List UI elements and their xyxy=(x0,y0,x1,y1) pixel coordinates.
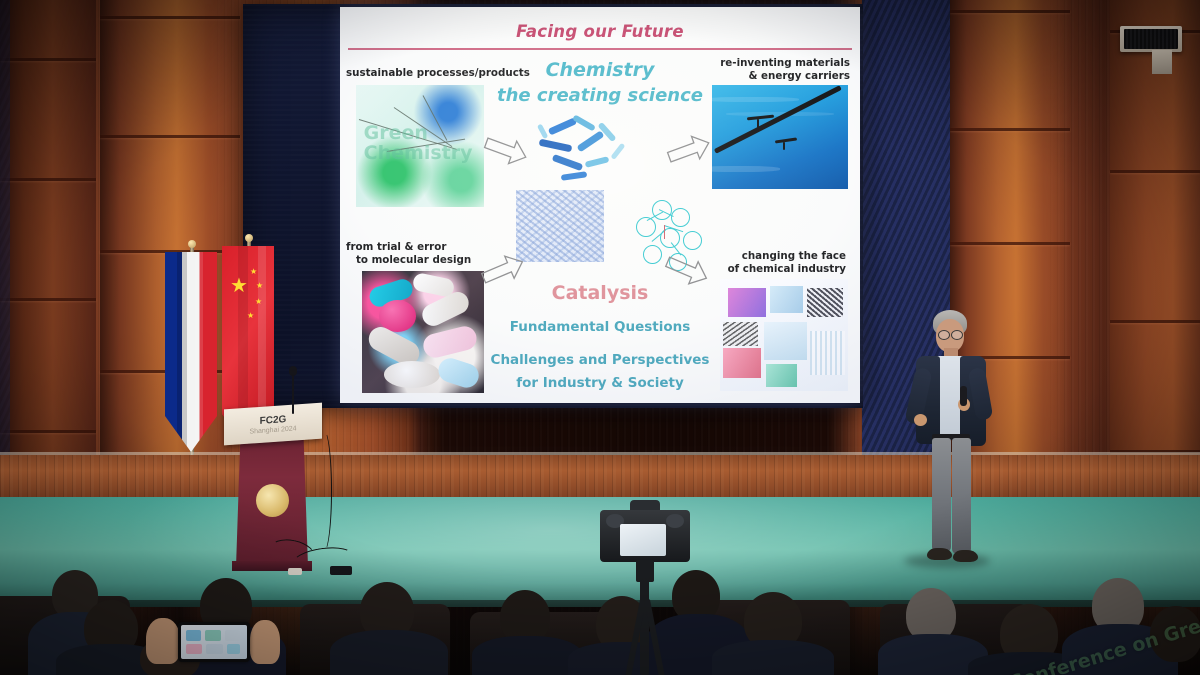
microphone-head xyxy=(289,366,297,376)
audience-hand-holding-phone xyxy=(146,618,180,664)
podium-emblem xyxy=(256,484,289,517)
smartphone[interactable] xyxy=(178,622,250,662)
slide-title: Facing our Future xyxy=(340,22,860,41)
audience-hand-holding-phone-2 xyxy=(250,620,280,664)
slide-title-rule xyxy=(348,48,852,50)
slide-image-chemical-industry xyxy=(720,279,848,391)
speaker-trousers-right xyxy=(952,438,971,554)
slide-image-energy-carriers xyxy=(712,85,848,189)
stage-connector xyxy=(288,568,302,575)
speaker-glasses-right xyxy=(951,330,963,340)
slide-heading-chemistry: Chemistry xyxy=(340,59,860,81)
audience-shoulders-5 xyxy=(330,630,448,675)
wall-speaker-icon xyxy=(1120,26,1182,52)
podium-sign: FC2G Shanghai 2024 xyxy=(224,403,322,446)
slide-image-green-chemistry: Green Chemistry xyxy=(356,85,484,207)
presentation-slide: Facing our Future sustainable processes/… xyxy=(340,7,860,403)
flag-star-1: ★ xyxy=(250,268,257,276)
speaker-hand-left xyxy=(914,414,927,426)
dslr-camera-on-tripod xyxy=(596,500,694,675)
audience-shoulders-6 xyxy=(472,636,582,675)
speaker-glasses-left xyxy=(938,330,950,340)
flag-star-2: ★ xyxy=(256,282,263,290)
speaker xyxy=(896,310,1006,570)
speaker-shoe-right xyxy=(953,550,978,562)
screenshot-root: Facing our Future sustainable processes/… xyxy=(0,0,1200,675)
camera-shutter-dial xyxy=(666,514,684,528)
speaker-shoe-left xyxy=(927,548,952,560)
slide-image-molecular-design xyxy=(362,271,484,393)
handheld-microphone xyxy=(960,386,967,406)
stage-cable-3 xyxy=(316,430,332,552)
stage-front-panel xyxy=(0,455,1200,500)
arrow-top-left-icon xyxy=(479,128,532,172)
speaker-trousers-left xyxy=(932,438,951,552)
flag-finial-china xyxy=(245,234,253,242)
green-chemistry-watermark: Green Chemistry xyxy=(364,124,473,164)
slide-image-microstructure xyxy=(516,190,604,262)
camera-lcd-screen xyxy=(620,524,666,556)
slide-image-protein-structure xyxy=(528,115,638,193)
audience-shoulders-9 xyxy=(712,640,834,675)
smartphone-screen xyxy=(181,625,247,659)
flag-finial-france xyxy=(188,240,196,248)
speaker-grille xyxy=(1124,29,1178,49)
wall-plate xyxy=(1152,50,1172,74)
flag-star-large: ★ xyxy=(230,276,248,296)
tripod-head xyxy=(636,560,654,582)
flag-star-3: ★ xyxy=(255,298,262,306)
stage-equipment-box xyxy=(330,566,352,575)
microphone-stand xyxy=(292,372,294,414)
arrow-top-right-icon xyxy=(662,128,715,172)
flag-star-4: ★ xyxy=(247,312,254,320)
flag-france xyxy=(165,252,217,452)
tripod-center-post xyxy=(640,580,649,675)
solar-plane-wing xyxy=(714,86,842,155)
